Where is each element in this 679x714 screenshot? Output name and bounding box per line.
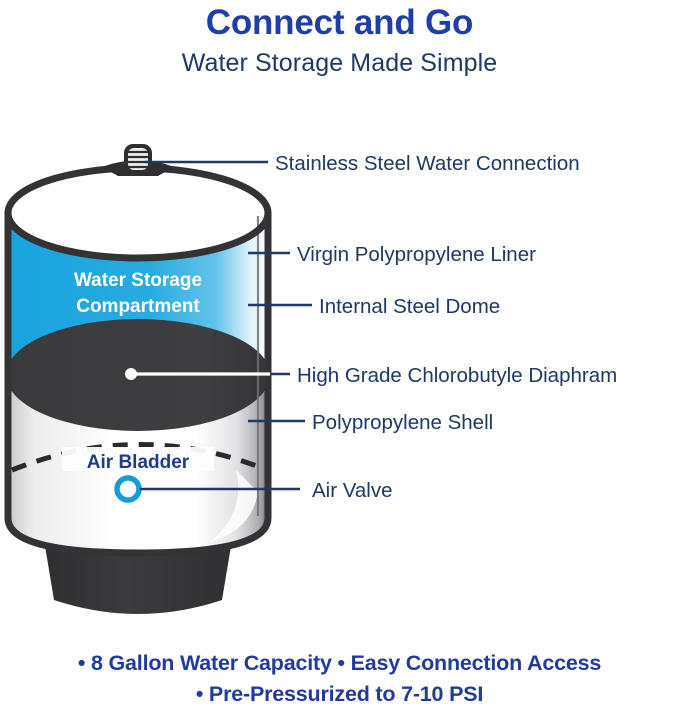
callout-label-high-grade-chlorobutyle-diaphram: High Grade Chlorobutyle Diaphram xyxy=(297,364,617,387)
water-compartment-label-line2: Compartment xyxy=(76,296,200,317)
callout-label-internal-steel-dome: Internal Steel Dome xyxy=(319,295,500,318)
feature-line-2: • Pre-Pressurized to 7-10 PSI xyxy=(0,679,679,710)
poster-canvas: Connect and Go Water Storage Made Simple xyxy=(0,0,679,714)
tank-diagram-svg: Water Storage Compartment Air Bladder xyxy=(0,0,679,714)
callout-label-virgin-polypropylene-liner: Virgin Polypropylene Liner xyxy=(297,243,536,266)
feature-list: • 8 Gallon Water Capacity • Easy Connect… xyxy=(0,648,679,709)
water-compartment-label-line1: Water Storage xyxy=(74,270,202,291)
callout-label-stainless-steel-water-connection: Stainless Steel Water Connection xyxy=(275,152,580,175)
feature-line-1: • 8 Gallon Water Capacity • Easy Connect… xyxy=(0,648,679,679)
air-bladder-label: Air Bladder xyxy=(87,452,190,473)
tank-diagram: Water Storage Compartment Air Bladder xyxy=(0,0,679,714)
callout-label-air-valve: Air Valve xyxy=(312,479,393,502)
callout-label-polypropylene-shell: Polypropylene Shell xyxy=(312,411,493,434)
stainless-steel-connection-fitting xyxy=(100,144,176,176)
